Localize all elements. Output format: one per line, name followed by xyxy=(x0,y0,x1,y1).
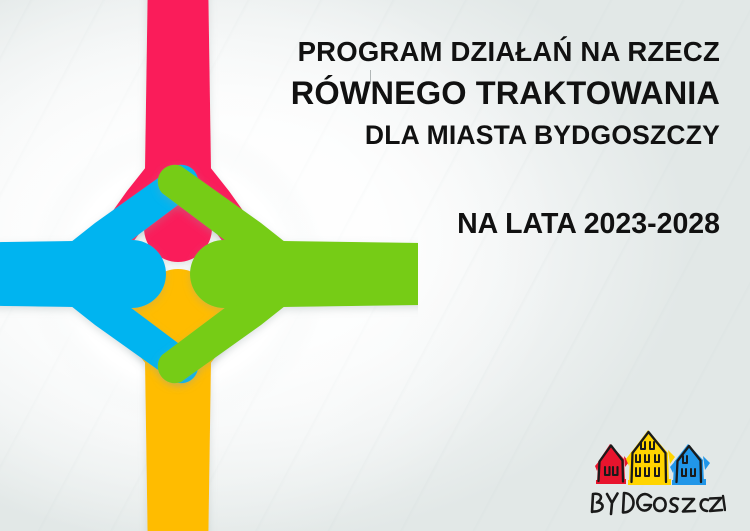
house-red-icon xyxy=(595,444,629,484)
figure-right-head xyxy=(190,240,258,308)
figure-left-torso xyxy=(0,241,73,307)
headline-line-1: PROGRAM DZIAŁAŃ NA RZECZ xyxy=(291,38,720,66)
house-yellow-icon xyxy=(626,430,675,485)
page-title: PROGRAM DZIAŁAŃ NA RZECZ RÓWNEGO TRAKTOW… xyxy=(291,38,720,149)
figure-top-torso xyxy=(145,0,211,169)
house-blue-icon xyxy=(670,444,710,485)
figure-right-torso xyxy=(283,241,418,307)
figure-left-head xyxy=(98,240,166,308)
poster-canvas: PROGRAM DZIAŁAŃ NA RZECZ RÓWNEGO TRAKTOW… xyxy=(0,0,750,531)
headline-line-3: DLA MIASTA BYDGOSZCZY xyxy=(291,122,720,149)
decorative-tick-mark xyxy=(370,70,371,84)
date-range-label: NA LATA 2023-2028 xyxy=(457,208,720,241)
bydgoszcz-wordmark xyxy=(592,493,725,514)
bydgoszcz-logo xyxy=(586,426,726,518)
headline-line-2: RÓWNEGO TRAKTOWANIA xyxy=(291,77,720,110)
figure-bottom-torso xyxy=(145,362,211,531)
